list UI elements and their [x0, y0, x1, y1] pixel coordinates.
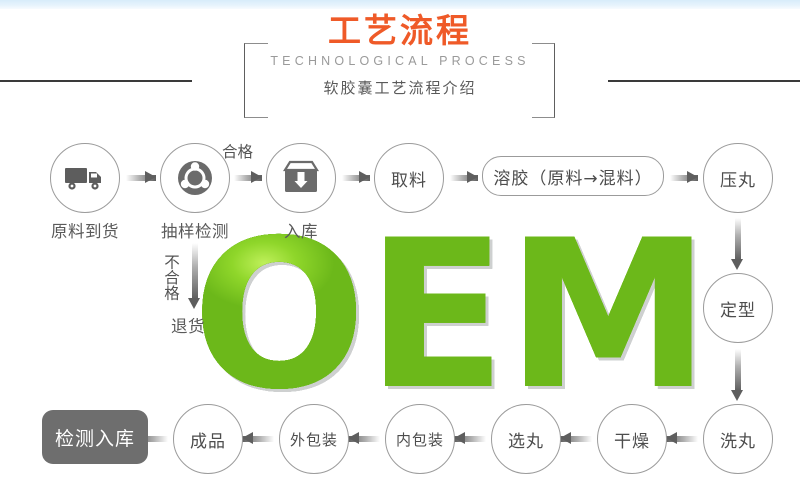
- box-down-arrow-icon: [267, 144, 335, 212]
- arrow-solgel-to-press: [670, 171, 698, 184]
- node-label-inspect-warehouse: 检测入库: [55, 424, 135, 451]
- truck-icon: [51, 144, 119, 212]
- node-drying[interactable]: 干燥: [597, 404, 667, 474]
- node-label-inner-packaging: 内包装: [396, 429, 444, 450]
- caption-sampling-inspection: 抽样检测: [140, 218, 250, 242]
- arrow-sampling-to-return: [188, 243, 201, 309]
- node-return-goods: 退货: [148, 313, 228, 337]
- node-warehouse-in[interactable]: [266, 143, 336, 213]
- oem-letter-m: M: [506, 214, 710, 419]
- top-accent-band: [0, 0, 800, 9]
- node-label-wash-pill: 洗丸: [720, 427, 756, 452]
- node-inspect-warehouse[interactable]: 检测入库: [42, 410, 148, 464]
- arrow-press-to-shaping: [731, 218, 744, 270]
- arrow-outer-pack-to-finished: [242, 432, 274, 445]
- arrow-sampling-to-warehouse: [234, 171, 262, 184]
- caption-raw-material-arrival: 原料到货: [30, 218, 140, 242]
- node-finished-product[interactable]: 成品: [173, 404, 243, 474]
- page-title-english: TECHNOLOGICAL PROCESS: [262, 55, 537, 68]
- node-label-shaping: 定型: [720, 296, 756, 321]
- node-wash-pill[interactable]: 洗丸: [703, 404, 773, 474]
- oem-watermark: O E M: [192, 228, 708, 404]
- inspection-chuck-icon: [161, 144, 229, 212]
- process-flow-infographic: 工艺流程 TECHNOLOGICAL PROCESS 软胶囊工艺流程介绍 O E…: [0, 0, 800, 499]
- node-label-pill-selection: 选丸: [508, 427, 544, 452]
- arrow-drying-to-selection: [560, 432, 592, 445]
- node-inner-packaging[interactable]: 内包装: [385, 404, 455, 474]
- node-label-sol-gel: 溶胶（原料→混料）: [493, 164, 652, 189]
- node-pill-selection[interactable]: 选丸: [491, 404, 561, 474]
- arrow-selection-to-inner-pack: [454, 432, 486, 445]
- node-sampling-inspection[interactable]: [160, 143, 230, 213]
- oem-letter-e: E: [366, 214, 506, 419]
- caption-warehouse-in: 入库: [256, 218, 346, 242]
- edge-label-fail: 不合格: [160, 254, 182, 301]
- node-outer-packaging[interactable]: 外包装: [279, 404, 349, 474]
- node-label-finished-product: 成品: [190, 427, 226, 452]
- page-title: 工艺流程: [318, 14, 482, 47]
- arrow-wash-to-drying: [666, 432, 698, 445]
- arrow-pickup-to-solgel: [450, 171, 478, 184]
- node-shaping[interactable]: 定型: [703, 273, 773, 343]
- node-label-outer-packaging: 外包装: [290, 429, 338, 450]
- node-label-press-pill: 压丸: [720, 166, 756, 191]
- arrow-shaping-to-wash: [731, 349, 744, 401]
- page-subtitle: 软胶囊工艺流程介绍: [311, 81, 488, 96]
- header: 工艺流程 TECHNOLOGICAL PROCESS 软胶囊工艺流程介绍: [0, 14, 800, 118]
- arrow-arrival-to-sampling: [126, 171, 156, 184]
- arrow-inner-to-outer-pack: [348, 432, 380, 445]
- arrow-warehouse-to-pickup: [342, 171, 370, 184]
- node-raw-material-arrival[interactable]: [50, 143, 120, 213]
- node-label-material-pickup: 取料: [391, 166, 427, 191]
- edge-label-pass: 合格: [222, 140, 253, 162]
- node-sol-gel[interactable]: 溶胶（原料→混料）: [482, 156, 664, 196]
- node-material-pickup[interactable]: 取料: [374, 143, 444, 213]
- node-press-pill[interactable]: 压丸: [703, 143, 773, 213]
- node-label-drying: 干燥: [614, 427, 650, 452]
